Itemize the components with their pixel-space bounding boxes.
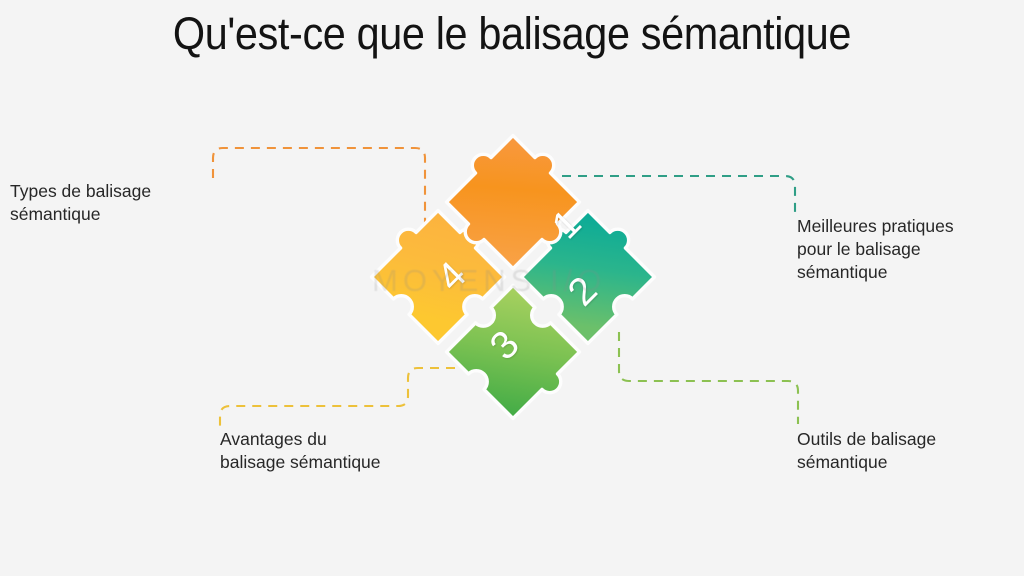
caption-outils: Outils de balisage sémantique — [797, 428, 1012, 474]
connector-benefits — [220, 368, 487, 428]
caption-meilleures-pratiques: Meilleures pratiques pour le balisage sé… — [797, 215, 1012, 284]
connector-tools — [619, 332, 798, 424]
caption-avantages: Avantages du balisage sémantique — [220, 428, 450, 474]
slide-canvas: Qu'est-ce que le balisage sémantique — [0, 0, 1024, 576]
caption-types-de-balisage: Types de balisage sémantique — [10, 180, 225, 226]
connector-types — [213, 148, 425, 243]
page-title: Qu'est-ce que le balisage sémantique — [41, 8, 983, 60]
